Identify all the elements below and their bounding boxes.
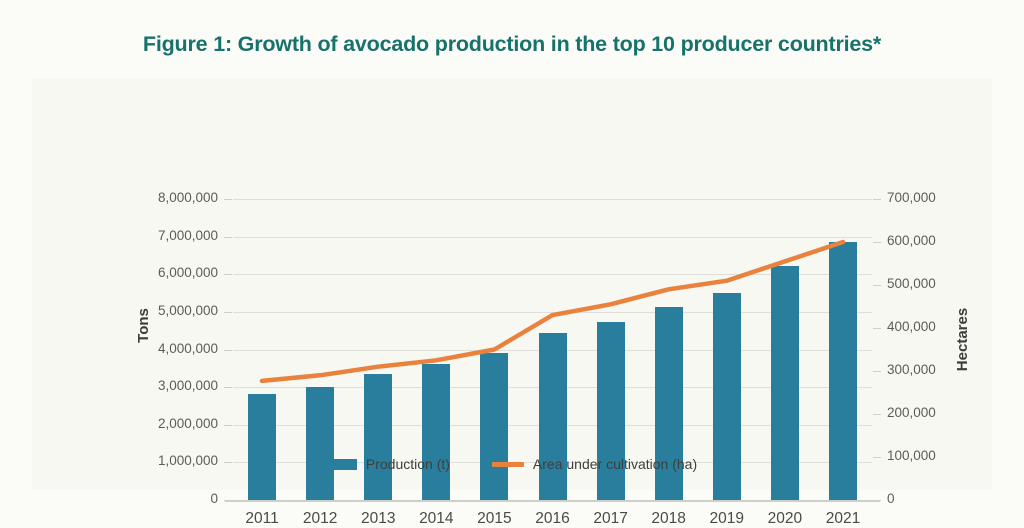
right-axis-tick	[873, 328, 881, 329]
plot-area: 01,000,0002,000,0003,000,0004,000,0005,0…	[233, 199, 872, 500]
right-axis-tick	[873, 285, 881, 286]
chart-panel: 01,000,0002,000,0003,000,0004,000,0005,0…	[32, 78, 992, 490]
x-tick-label-2018: 2018	[641, 510, 697, 528]
x-tick-label-2014: 2014	[408, 510, 464, 528]
x-tick-label-2012: 2012	[292, 510, 348, 528]
legend-line-swatch-icon	[492, 462, 524, 467]
right-axis-tick	[873, 199, 881, 200]
right-axis-tick-label: 300,000	[887, 362, 936, 377]
figure-page: Figure 1: Growth of avocado production i…	[0, 0, 1024, 512]
left-axis-tick-label: 6,000,000	[124, 265, 218, 280]
legend-bar-swatch-icon	[327, 459, 357, 470]
x-tick-label-2020: 2020	[757, 510, 813, 528]
left-axis-title: Tons	[135, 308, 152, 343]
legend-label-production: Production (t)	[366, 456, 450, 472]
x-tick-label-2017: 2017	[583, 510, 639, 528]
chart-legend: Production (t) Area under cultivation (h…	[32, 456, 992, 472]
left-axis-tick	[224, 237, 232, 238]
figure-title: Figure 1: Growth of avocado production i…	[0, 32, 1024, 57]
right-axis-title: Hectares	[954, 308, 971, 371]
bar-2017[interactable]	[597, 322, 625, 500]
right-axis-tick-label: 400,000	[887, 319, 936, 334]
legend-item-production[interactable]: Production (t)	[327, 456, 450, 472]
left-axis-tick	[224, 387, 232, 388]
gridline	[233, 199, 872, 200]
left-axis-tick	[224, 274, 232, 275]
x-tick-label-2011: 2011	[234, 510, 290, 528]
bar-2013[interactable]	[364, 374, 392, 500]
left-axis-tick	[224, 350, 232, 351]
x-tick-label-2013: 2013	[350, 510, 406, 528]
bar-2014[interactable]	[422, 364, 450, 500]
bar-2015[interactable]	[480, 353, 508, 500]
right-axis-tick	[873, 242, 881, 243]
right-axis-tick-label: 0	[887, 491, 895, 506]
x-tick-label-2015: 2015	[466, 510, 522, 528]
x-tick-label-2016: 2016	[525, 510, 581, 528]
right-axis-tick-label: 600,000	[887, 233, 936, 248]
left-axis-tick-label: 2,000,000	[124, 416, 218, 431]
legend-label-area-under-cultivation: Area under cultivation (ha)	[533, 456, 697, 472]
gridline	[233, 237, 872, 238]
legend-item-area-under-cultivation[interactable]: Area under cultivation (ha)	[492, 456, 697, 472]
left-axis-tick	[224, 425, 232, 426]
left-axis-tick-label: 7,000,000	[124, 228, 218, 243]
left-axis-tick-label: 8,000,000	[124, 190, 218, 205]
left-axis-tick-label: 0	[124, 491, 218, 506]
right-axis-tick-label: 700,000	[887, 190, 936, 205]
right-axis-tick	[873, 414, 881, 415]
bar-2016[interactable]	[539, 333, 567, 500]
left-axis-tick	[224, 199, 232, 200]
bar-2012[interactable]	[306, 387, 334, 500]
left-axis-tick	[224, 312, 232, 313]
left-axis-tick-label: 3,000,000	[124, 378, 218, 393]
x-tick-label-2019: 2019	[699, 510, 755, 528]
right-axis-tick-label: 500,000	[887, 276, 936, 291]
right-axis-tick-label: 200,000	[887, 405, 936, 420]
category-axis-line	[225, 500, 880, 502]
bar-2011[interactable]	[248, 394, 276, 500]
right-axis-tick	[873, 371, 881, 372]
x-tick-label-2021: 2021	[815, 510, 871, 528]
